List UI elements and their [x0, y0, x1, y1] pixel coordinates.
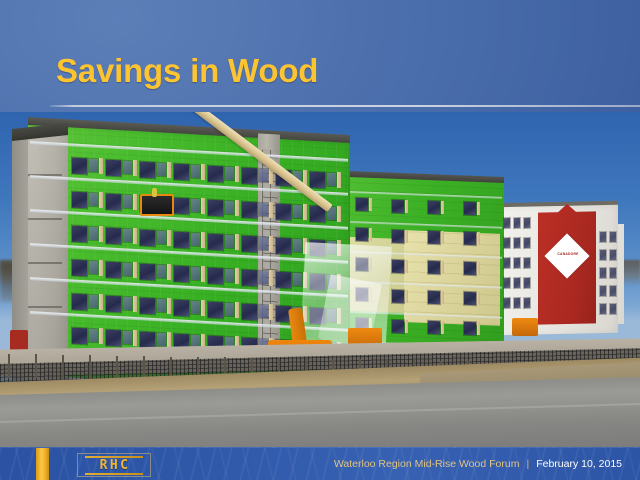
facade-detail	[269, 236, 273, 252]
facade-detail	[72, 328, 87, 345]
facade-detail	[167, 264, 171, 280]
facade-detail	[242, 168, 257, 185]
form-tie-row	[26, 306, 62, 308]
facade-detail	[174, 164, 189, 181]
facade-detail	[72, 226, 87, 243]
footer-separator: |	[526, 458, 529, 470]
facade-detail	[405, 200, 408, 213]
facade-detail	[310, 171, 325, 188]
facade-detail	[600, 250, 606, 260]
facade-detail	[191, 267, 200, 281]
facade-detail	[225, 303, 234, 317]
facade-detail	[464, 322, 476, 335]
facade-detail	[89, 295, 98, 309]
facade-detail	[477, 292, 480, 305]
facade-detail	[504, 218, 510, 228]
facade-detail	[140, 162, 155, 179]
facade-detail	[428, 291, 440, 304]
facade-detail	[72, 294, 87, 311]
facade-detail	[174, 300, 189, 317]
facade-detail	[259, 305, 268, 319]
facade-detail	[259, 169, 268, 183]
facade-detail	[225, 167, 234, 181]
facade-detail	[303, 204, 307, 220]
facade-detail	[89, 329, 98, 343]
facade-detail	[72, 260, 87, 277]
facade-detail	[89, 227, 98, 241]
facade-detail	[392, 199, 404, 212]
facade-detail	[610, 232, 616, 242]
construction-photo: CANADORE	[0, 112, 640, 448]
facade-detail	[123, 263, 132, 277]
facade-detail	[441, 291, 444, 304]
facade-detail	[133, 160, 137, 176]
facade-detail	[72, 192, 87, 209]
facade-detail	[99, 158, 103, 174]
fence-post	[116, 356, 118, 380]
concrete-elevator-core	[22, 130, 68, 380]
facade-detail	[524, 238, 530, 248]
facade-detail	[464, 202, 476, 215]
facade-detail	[428, 231, 440, 244]
facade-detail	[167, 298, 171, 314]
facade-detail	[235, 166, 239, 182]
facade-detail	[504, 258, 510, 268]
facade-detail	[293, 205, 302, 219]
facade-detail	[191, 301, 200, 315]
facade-detail	[225, 269, 234, 283]
facade-detail	[276, 203, 291, 220]
facade-detail	[356, 198, 368, 211]
facade-detail	[201, 198, 205, 214]
facade-detail	[610, 286, 616, 296]
facade-detail	[242, 270, 257, 287]
facade-detail	[242, 202, 257, 219]
facade-detail	[464, 232, 476, 245]
fence-post	[62, 355, 64, 379]
slide-footer: RHC Waterloo Region Mid-Rise Wood Forum …	[0, 447, 640, 480]
facade-detail	[477, 322, 480, 335]
boom-lift-basket	[140, 194, 174, 216]
facade-detail	[514, 278, 520, 288]
facade-detail	[600, 268, 606, 278]
facade-detail	[524, 258, 530, 268]
facade-detail	[208, 234, 223, 251]
facade-detail	[428, 321, 440, 334]
facade-detail	[99, 192, 103, 208]
facade-detail	[123, 229, 132, 243]
facade-detail	[208, 166, 223, 183]
facade-detail	[524, 218, 530, 228]
facade-detail	[191, 233, 200, 247]
facade-detail	[428, 201, 440, 214]
canadore-sign-text: CANADORE	[549, 252, 587, 256]
facade-detail	[269, 202, 273, 218]
facade-detail	[157, 231, 166, 245]
facade-detail	[269, 270, 273, 286]
facade-detail	[504, 298, 510, 308]
insulation-band	[404, 230, 500, 326]
facade-detail	[610, 250, 616, 260]
facade-detail	[504, 278, 510, 288]
rhc-logo[interactable]: RHC	[77, 453, 151, 477]
facade-detail	[610, 268, 616, 278]
facade-detail	[99, 260, 103, 276]
facade-detail	[293, 273, 302, 287]
facade-detail	[201, 300, 205, 316]
facade-detail	[477, 202, 480, 215]
facade-detail	[140, 264, 155, 281]
facade-detail	[600, 304, 606, 314]
facade-detail	[276, 237, 291, 254]
facade-detail	[405, 260, 408, 273]
facade-detail	[327, 173, 336, 187]
facade-detail	[123, 331, 132, 345]
facade-detail	[259, 203, 268, 217]
page-title: Savings in Wood	[56, 52, 318, 90]
facade-detail	[293, 239, 302, 253]
facade-detail	[225, 235, 234, 249]
facade-detail	[356, 228, 368, 241]
facade-detail	[157, 163, 166, 177]
facade-detail	[369, 228, 372, 241]
facade-detail	[133, 262, 137, 278]
facade-detail	[259, 271, 268, 285]
facade-detail	[106, 228, 121, 245]
facade-detail	[106, 330, 121, 347]
facade-detail	[99, 226, 103, 242]
facade-detail	[133, 330, 137, 346]
logo-rule-bottom	[85, 473, 143, 475]
facade-detail	[514, 218, 520, 228]
footer-event-name: Waterloo Region Mid-Rise Wood Forum	[334, 458, 520, 470]
facade-detail	[441, 321, 444, 334]
facade-detail	[600, 232, 606, 242]
facade-detail	[441, 231, 444, 244]
facade-detail	[235, 268, 239, 284]
facade-detail	[269, 304, 273, 320]
logo-text: RHC	[100, 459, 131, 472]
facade-detail	[208, 200, 223, 217]
facade-detail	[191, 165, 200, 179]
facade-detail	[106, 194, 121, 211]
facade-detail	[428, 261, 440, 274]
facade-detail	[157, 265, 166, 279]
facade-detail	[174, 198, 189, 215]
facade-detail	[441, 201, 444, 214]
facade-detail	[225, 201, 234, 215]
facade-detail	[337, 172, 341, 188]
facade-detail	[191, 199, 200, 213]
facade-detail	[477, 262, 480, 275]
facade-detail	[600, 286, 606, 296]
footer-accent-bar	[36, 448, 49, 480]
facade-detail	[405, 320, 408, 333]
facade-detail	[392, 289, 404, 302]
facade-detail	[201, 232, 205, 248]
facade-detail	[235, 302, 239, 318]
facade-detail	[89, 261, 98, 275]
facade-detail	[133, 228, 137, 244]
facade-detail	[89, 159, 98, 173]
facade-detail	[464, 292, 476, 305]
facade-detail	[405, 230, 408, 243]
facade-detail	[337, 206, 341, 222]
facade-detail	[123, 161, 132, 175]
facade-detail	[369, 198, 372, 211]
facade-detail	[208, 302, 223, 319]
facade-detail	[123, 297, 132, 311]
facade-detail	[242, 304, 257, 321]
facade-detail	[235, 234, 239, 250]
facade-detail	[514, 238, 520, 248]
facade-detail	[259, 237, 268, 251]
slide: Savings in Wood CANADORE	[0, 0, 640, 480]
facade-detail	[174, 266, 189, 283]
facade-detail	[392, 259, 404, 272]
facade-detail	[89, 193, 98, 207]
facade-detail	[514, 258, 520, 268]
facade-detail	[99, 328, 103, 344]
facade-detail	[242, 236, 257, 253]
facade-detail	[106, 160, 121, 177]
facade-detail	[157, 333, 166, 347]
facade-detail	[157, 299, 166, 313]
footer-date: February 10, 2015	[536, 458, 622, 470]
facade-detail	[208, 268, 223, 285]
form-tie-row	[26, 262, 62, 264]
facade-detail	[106, 262, 121, 279]
facade-detail	[99, 294, 103, 310]
facade-detail	[123, 195, 132, 209]
fence-post	[89, 355, 91, 379]
facade-detail	[167, 162, 171, 178]
facade-detail	[72, 158, 87, 175]
fence-post	[8, 354, 10, 378]
facade-detail	[477, 232, 480, 245]
facade-detail	[106, 296, 121, 313]
facade-detail	[174, 232, 189, 249]
facade-detail	[441, 261, 444, 274]
facade-detail	[504, 238, 510, 248]
facade-detail	[405, 290, 408, 303]
facade-detail	[235, 200, 239, 216]
facade-detail	[464, 262, 476, 275]
facade-detail	[140, 298, 155, 315]
facade-detail	[133, 296, 137, 312]
facade-detail	[610, 304, 616, 314]
facade-detail	[514, 298, 520, 308]
facade-detail	[140, 230, 155, 247]
scissor-lift-far	[512, 318, 538, 336]
facade-detail	[392, 229, 404, 242]
worker	[152, 188, 157, 197]
facade-detail	[201, 164, 205, 180]
footer-meta: Waterloo Region Mid-Rise Wood Forum | Fe…	[334, 448, 622, 480]
facade-detail	[392, 319, 404, 332]
facade-detail	[276, 271, 291, 288]
title-divider	[50, 105, 640, 107]
fence-post	[35, 354, 37, 378]
facade-detail	[167, 230, 171, 246]
facade-detail	[201, 266, 205, 282]
form-tie-row	[26, 218, 62, 220]
facade-detail	[133, 194, 137, 210]
facade-detail	[524, 278, 530, 288]
facade-detail	[524, 298, 530, 308]
